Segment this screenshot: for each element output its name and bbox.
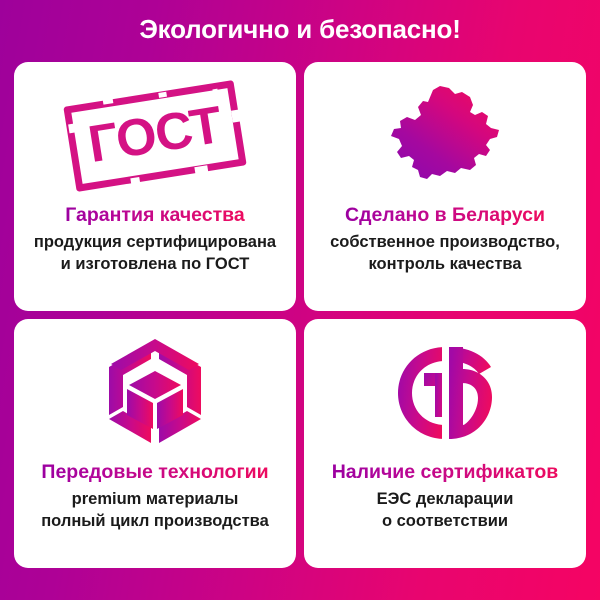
card-subtitle-line: premium материалы	[41, 489, 269, 510]
card-subtitle: продукция сертифицирована и изготовлена …	[28, 232, 282, 274]
gost-stamp-icon: ГОСТ	[63, 80, 246, 192]
card-subtitle-line: продукция сертифицирована	[34, 232, 276, 253]
belarus-map-icon-area	[304, 62, 586, 202]
card-title: Гарантия качества	[65, 204, 245, 227]
banner-header: Экологично и безопасно!	[0, 0, 600, 58]
card-subtitle: собственное производство, контроль качес…	[324, 232, 566, 274]
card-subtitle: ЕЭС декларации о соответствии	[371, 489, 520, 531]
page-title: Экологично и безопасно!	[139, 14, 460, 45]
gost-stamp-icon-area: ГОСТ	[14, 62, 296, 202]
card-title: Передовые технологии	[41, 461, 268, 484]
card-title: Сделано в Беларуси	[345, 204, 545, 227]
stb-certificate-logo-icon	[392, 341, 498, 445]
belarus-map-icon	[387, 84, 503, 188]
feature-card-certificates[interactable]: Наличие сертификатов ЕЭС декларации о со…	[304, 319, 586, 568]
feature-card-made-in-belarus[interactable]: Сделано в Беларуси собственное производс…	[304, 62, 586, 311]
card-subtitle-line: о соответствии	[377, 511, 514, 532]
card-subtitle-line: и изготовлена по ГОСТ	[34, 254, 276, 275]
feature-card-advanced-technologies[interactable]: Передовые технологии premium материалы п…	[14, 319, 296, 568]
stb-logo-icon-area	[304, 319, 586, 459]
card-subtitle: premium материалы полный цикл производст…	[35, 489, 275, 531]
card-subtitle-line: контроль качества	[330, 254, 560, 275]
gost-stamp-label: ГОСТ	[63, 80, 246, 192]
hexagon-cube-icon	[103, 337, 207, 449]
card-subtitle-line: ЕЭС декларации	[377, 489, 514, 510]
card-subtitle-line: собственное производство,	[330, 232, 560, 253]
card-title: Наличие сертификатов	[332, 461, 559, 484]
hexagon-cube-icon-area	[14, 319, 296, 459]
promo-banner: Экологично и безопасно! ГОСТ Гар	[0, 0, 600, 600]
feature-card-grid: ГОСТ Гарантия качества продукция сертифи…	[14, 62, 586, 568]
card-subtitle-line: полный цикл производства	[41, 511, 269, 532]
feature-card-quality-guarantee[interactable]: ГОСТ Гарантия качества продукция сертифи…	[14, 62, 296, 311]
